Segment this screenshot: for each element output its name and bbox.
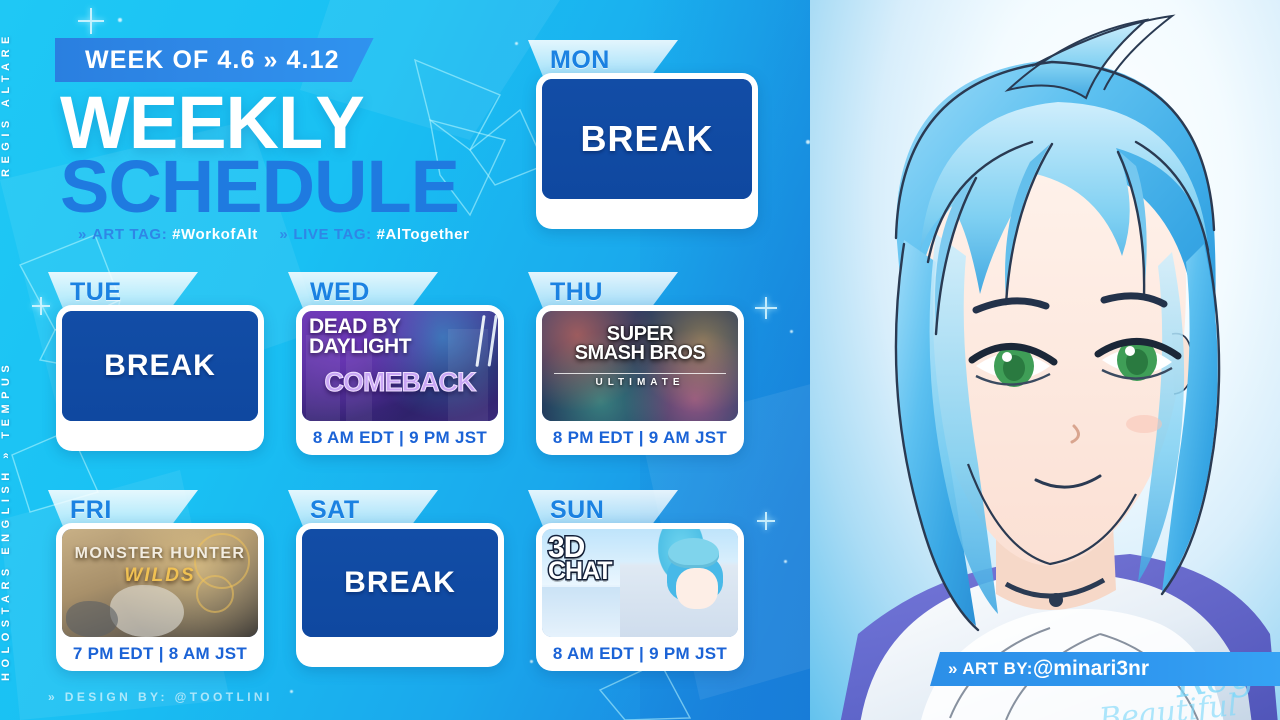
vertical-label-talent-name: REGIS ALTARE xyxy=(0,14,46,194)
sparkle-icon xyxy=(32,297,50,315)
stream-art-3d-chat: 3D CHAT xyxy=(542,529,738,637)
game-art-super-smash-bros: SUPER SMASH BROS ULTIMATE xyxy=(542,311,738,421)
art-hat xyxy=(668,538,719,568)
art-character xyxy=(620,529,738,637)
sparkle-icon xyxy=(790,330,793,333)
card-footer-wed: 8 AM EDT | 9 PM JST xyxy=(302,421,498,455)
stream-title-sun: 3D CHAT xyxy=(548,535,612,582)
card-frame: SUPER SMASH BROS ULTIMATE 8 PM EDT | 9 A… xyxy=(536,305,744,455)
break-panel: BREAK xyxy=(62,311,258,421)
sparkle-icon xyxy=(530,660,533,663)
card-frame: BREAK xyxy=(296,523,504,667)
card-frame: 3D CHAT 8 AM EDT | 9 PM JST xyxy=(536,523,744,671)
card-frame: BREAK xyxy=(56,305,264,451)
game-title-thu: SUPER SMASH BROS xyxy=(542,325,738,363)
decor-rock xyxy=(110,585,184,637)
art-credit-handle: @minari3nr xyxy=(1033,657,1149,681)
card-footer-thu: 8 PM EDT | 9 AM JST xyxy=(542,421,738,455)
game-subtitle-thu: ULTIMATE xyxy=(542,377,738,388)
card-time-thu: 8 PM EDT | 9 AM JST xyxy=(553,428,727,448)
sparkle-icon xyxy=(755,297,777,319)
sparkle-icon xyxy=(78,8,104,34)
design-credit: » DESIGN BY: @TOOTLINI xyxy=(48,690,273,704)
decor-rock xyxy=(66,601,118,637)
art-credit-label: » ART BY: xyxy=(948,659,1033,679)
card-footer-fri: 7 PM EDT | 8 AM JST xyxy=(62,637,258,671)
card-footer-mon xyxy=(542,199,752,229)
art-credit-banner: » ART BY: @minari3nr xyxy=(930,652,1280,686)
card-time-fri: 7 PM EDT | 8 AM JST xyxy=(73,644,247,664)
character-illustration xyxy=(810,0,1280,720)
game-subtitle-wed: COMEBACK xyxy=(308,367,492,398)
page-title-schedule: SCHEDULE xyxy=(60,150,459,224)
live-tag-label: LIVE TAG: xyxy=(293,226,371,243)
game-art-dead-by-daylight: DEAD BY DAYLIGHT COMEBACK xyxy=(302,311,498,421)
game-art-monster-hunter-wilds: MONSTER HUNTER WILDS xyxy=(62,529,258,637)
day-label-tue: TUE xyxy=(70,278,122,307)
card-thumbnail-sat: BREAK xyxy=(302,529,498,637)
day-label-sat: SAT xyxy=(310,496,360,525)
card-thumbnail-sun: 3D CHAT xyxy=(542,529,738,637)
tagline: »ART TAG: #WorkofAlt »LIVE TAG: #AlToget… xyxy=(78,226,470,243)
day-label-fri: FRI xyxy=(70,496,112,525)
card-thumbnail-fri: MONSTER HUNTER WILDS xyxy=(62,529,258,637)
card-thumbnail-thu: SUPER SMASH BROS ULTIMATE xyxy=(542,311,738,421)
week-of-text: WEEK OF 4.6 » 4.12 xyxy=(85,46,340,75)
week-of-banner: WEEK OF 4.6 » 4.12 xyxy=(55,38,374,82)
day-label-mon: MON xyxy=(550,46,610,75)
card-thumbnail-tue: BREAK xyxy=(62,311,258,421)
card-time-sun: 8 AM EDT | 9 PM JST xyxy=(553,644,727,664)
sparkle-icon xyxy=(290,690,293,693)
card-footer-sun: 8 AM EDT | 9 PM JST xyxy=(542,637,738,671)
card-thumbnail-wed: DEAD BY DAYLIGHT COMEBACK xyxy=(302,311,498,421)
sparkle-icon xyxy=(515,42,518,45)
card-footer-sat xyxy=(302,637,498,667)
day-label-sun: SUN xyxy=(550,496,604,525)
art-tag-value: #WorkofAlt xyxy=(172,226,258,243)
chevron-icon: » xyxy=(279,226,288,243)
art-face xyxy=(676,568,717,609)
card-frame: DEAD BY DAYLIGHT COMEBACK 8 AM EDT | 9 P… xyxy=(296,305,504,455)
character-artwork xyxy=(810,0,1280,720)
card-frame: MONSTER HUNTER WILDS 7 PM EDT | 8 AM JST xyxy=(56,523,264,671)
game-title-fri: MONSTER HUNTER xyxy=(62,545,258,563)
art-tag-label: ART TAG: xyxy=(92,226,167,243)
live-tag-value: #AlTogether xyxy=(377,226,470,243)
vertical-label-branch: HOLOSTARS ENGLISH » TEMPUS xyxy=(0,330,46,710)
card-thumbnail-mon: BREAK xyxy=(542,79,752,199)
card-frame: BREAK xyxy=(536,73,758,229)
break-text-sat: BREAK xyxy=(344,566,456,600)
sparkle-icon xyxy=(118,18,122,22)
game-title-wed: DEAD BY DAYLIGHT xyxy=(309,317,494,356)
break-text-mon: BREAK xyxy=(580,118,713,160)
chevron-icon: » xyxy=(78,226,87,243)
day-label-wed: WED xyxy=(310,278,370,307)
break-panel: BREAK xyxy=(302,529,498,637)
divider xyxy=(554,373,726,374)
schedule-graphic: REGIS ALTARE HOLOSTARS ENGLISH » TEMPUS … xyxy=(0,0,1280,720)
day-label-thu: THU xyxy=(550,278,603,307)
card-time-wed: 8 AM EDT | 9 PM JST xyxy=(313,428,487,448)
card-footer-tue xyxy=(62,421,258,451)
sparkle-icon xyxy=(784,560,787,563)
break-panel: BREAK xyxy=(542,79,752,199)
sparkle-icon xyxy=(757,512,775,530)
game-subtitle-fri: WILDS xyxy=(62,565,258,587)
break-text-tue: BREAK xyxy=(104,349,216,383)
